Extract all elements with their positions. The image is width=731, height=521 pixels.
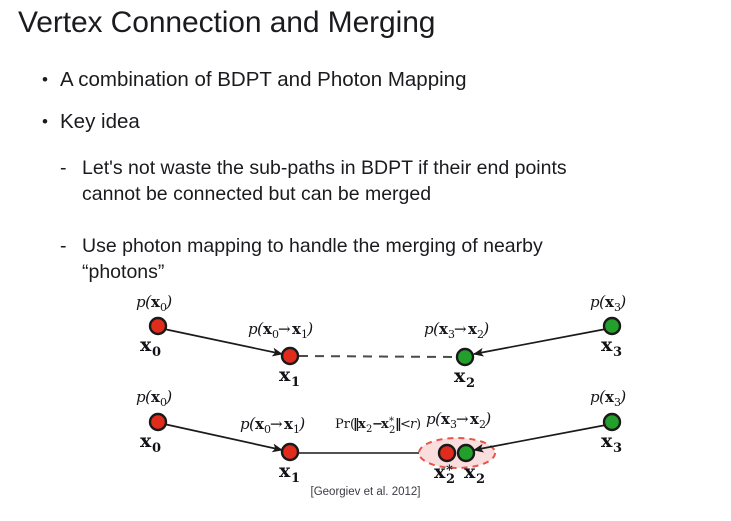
svg-text:→: →: [456, 410, 469, 428]
edge-label-p-x0-x1: p ( x 0 → x 1 ): [248, 319, 313, 341]
sub-bullet-line-2: cannot be connected but can be merged: [82, 181, 731, 207]
bullet-item-1: •A combination of BDPT and Photon Mappin…: [42, 68, 466, 92]
svg-text:x: x: [601, 334, 613, 356]
svg-text:): ): [619, 387, 626, 406]
diagram-row-connection: p ( x 0 ) p ( x 0 → x 1 ): [136, 292, 626, 391]
node-label-x2: x 2: [454, 365, 475, 391]
sub-bullet-item-1: - Let's not waste the sub-paths in BDPT …: [60, 155, 731, 207]
slide: Vertex Connection and Merging •A combina…: [0, 0, 731, 521]
pdf-label-p-x3: p ( x 3 ): [590, 292, 626, 314]
svg-text:): ): [416, 417, 421, 432]
svg-text:2: 2: [466, 376, 475, 391]
page-title: Vertex Connection and Merging: [18, 6, 435, 40]
node-label-x1-row2: x 1: [279, 460, 300, 486]
edge-label-p-x3-x2-row2: p ( x 3 → x 2 ): [426, 409, 491, 431]
node-label-x2-row2: x 2: [464, 461, 485, 487]
svg-text:3: 3: [613, 441, 622, 456]
node-label-x1: x 1: [279, 364, 300, 390]
bullet-marker: •: [42, 113, 60, 130]
node-x1-row2: [282, 444, 298, 460]
svg-text:x: x: [381, 417, 389, 432]
edge-label-pr-merge: Pr( ‖ x 2 − x * 2 ‖ < r ): [335, 416, 421, 436]
svg-text:1: 1: [291, 375, 300, 390]
pdf-label-p-x0-row2: p ( x 0 ): [136, 387, 172, 409]
bullet-text: A combination of BDPT and Photon Mapping: [60, 68, 466, 91]
sub-bullet-item-2: - Use photon mapping to handle the mergi…: [60, 233, 731, 285]
svg-text:x: x: [464, 461, 476, 483]
node-x2: [457, 349, 473, 365]
pdf-label-p-x0: p ( x 0 ): [136, 292, 172, 314]
edge-x3-x2: [474, 329, 606, 354]
node-x2-star: [439, 445, 455, 461]
svg-text:x: x: [358, 417, 366, 432]
sub-bullet-marker: -: [60, 233, 80, 259]
node-label-x2-star: x * 2: [434, 461, 455, 487]
node-x1: [282, 348, 298, 364]
pdf-label-p-x3-row2: p ( x 3 ): [590, 387, 626, 409]
figure-vertex-connection-merging: p ( x 0 ) p ( x 0 → x 1 ): [0, 283, 731, 521]
svg-text:x: x: [140, 334, 152, 356]
svg-text:): ): [165, 387, 172, 406]
diagram-row-merging: p ( x 0 ) p ( x 0 → x 1 ): [136, 387, 626, 487]
svg-text:→: →: [278, 320, 291, 338]
svg-text:): ): [298, 414, 305, 433]
node-x3-row2: [604, 414, 620, 430]
svg-text:x: x: [601, 430, 613, 452]
sub-bullet-line-2: “photons”: [82, 259, 731, 285]
edge-label-p-x3-x2: p ( x 3 → x 2 ): [424, 319, 489, 341]
svg-text:→: →: [454, 320, 467, 338]
svg-text:x: x: [434, 461, 446, 483]
svg-text:2: 2: [476, 472, 485, 487]
svg-text:0: 0: [152, 441, 161, 456]
svg-text:): ): [482, 319, 489, 338]
svg-text:x: x: [279, 460, 291, 482]
svg-text:): ): [306, 319, 313, 338]
sub-bullet-line-1: Let's not waste the sub-paths in BDPT if…: [82, 155, 731, 181]
svg-text:x: x: [454, 365, 466, 387]
svg-text:0: 0: [152, 345, 161, 360]
svg-text:x: x: [279, 364, 291, 386]
edge-label-p-x0-x1-row2: p ( x 0 → x 1 ): [240, 414, 305, 436]
node-x3: [604, 318, 620, 334]
svg-text:3: 3: [613, 345, 622, 360]
sub-bullet-marker: -: [60, 155, 80, 181]
bullet-item-2: •Key idea: [42, 110, 140, 134]
svg-text:→: →: [270, 415, 283, 433]
svg-text:2: 2: [446, 472, 455, 487]
svg-text:): ): [165, 292, 172, 311]
connection-edge-x1-x2: [299, 356, 456, 357]
node-x2-row2: [458, 445, 474, 461]
node-x0: [150, 318, 166, 334]
svg-text:): ): [619, 292, 626, 311]
svg-text:1: 1: [291, 471, 300, 486]
node-label-x3-row2: x 3: [601, 430, 622, 456]
figure-citation: [Georgiev et al. 2012]: [0, 486, 731, 498]
bullet-marker: •: [42, 71, 60, 88]
node-label-x3: x 3: [601, 334, 622, 360]
bullet-text: Key idea: [60, 110, 140, 133]
edge-x3-x2-row2: [474, 425, 606, 450]
node-x0-row2: [150, 414, 166, 430]
node-label-x0: x 0: [140, 334, 161, 360]
sub-bullet-line-1: Use photon mapping to handle the merging…: [82, 233, 731, 259]
svg-text:): ): [484, 409, 491, 428]
node-label-x0-row2: x 0: [140, 430, 161, 456]
svg-text:x: x: [140, 430, 152, 452]
